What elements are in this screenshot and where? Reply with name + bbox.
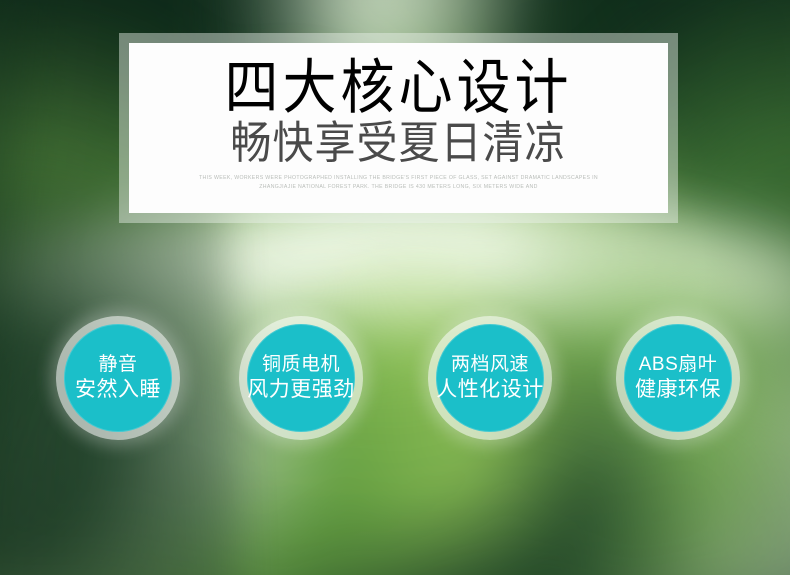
feature-label-line2: 健康环保 <box>635 377 721 403</box>
headline-secondary: 畅快享受夏日清凉 <box>231 120 567 166</box>
headline-card: 四大核心设计 畅快享受夏日清凉 THIS WEEK, WORKERS WERE … <box>119 33 678 223</box>
feature-circle-row: 静音 安然入睡 铜质电机 风力更强劲 两档风速 人性化设计 ABS扇叶 健康环保 <box>0 316 790 444</box>
feature-circle-copper-motor[interactable]: 铜质电机 风力更强劲 <box>239 316 363 440</box>
feature-disc: 静音 安然入睡 <box>64 324 172 432</box>
feature-label-line2: 风力更强劲 <box>247 377 355 403</box>
feature-label-line1: 铜质电机 <box>262 353 340 376</box>
feature-disc: ABS扇叶 健康环保 <box>624 324 732 432</box>
feature-label-line1: 静音 <box>98 353 137 376</box>
feature-label-line2: 人性化设计 <box>436 377 544 403</box>
feature-circle-abs-blade[interactable]: ABS扇叶 健康环保 <box>616 316 740 440</box>
headline-caption: THIS WEEK, WORKERS WERE PHOTOGRAPHED INS… <box>189 174 609 192</box>
feature-disc: 铜质电机 风力更强劲 <box>247 324 355 432</box>
product-feature-banner: 四大核心设计 畅快享受夏日清凉 THIS WEEK, WORKERS WERE … <box>0 0 790 575</box>
headline-primary: 四大核心设计 <box>225 57 573 119</box>
feature-label-line1: ABS扇叶 <box>639 353 718 376</box>
feature-disc: 两档风速 人性化设计 <box>436 324 544 432</box>
feature-circle-two-speed[interactable]: 两档风速 人性化设计 <box>428 316 552 440</box>
feature-label-line2: 安然入睡 <box>75 377 161 403</box>
feature-label-line1: 两档风速 <box>451 353 529 376</box>
feature-circle-quiet[interactable]: 静音 安然入睡 <box>56 316 180 440</box>
headline-card-inner: 四大核心设计 畅快享受夏日清凉 THIS WEEK, WORKERS WERE … <box>129 43 668 213</box>
